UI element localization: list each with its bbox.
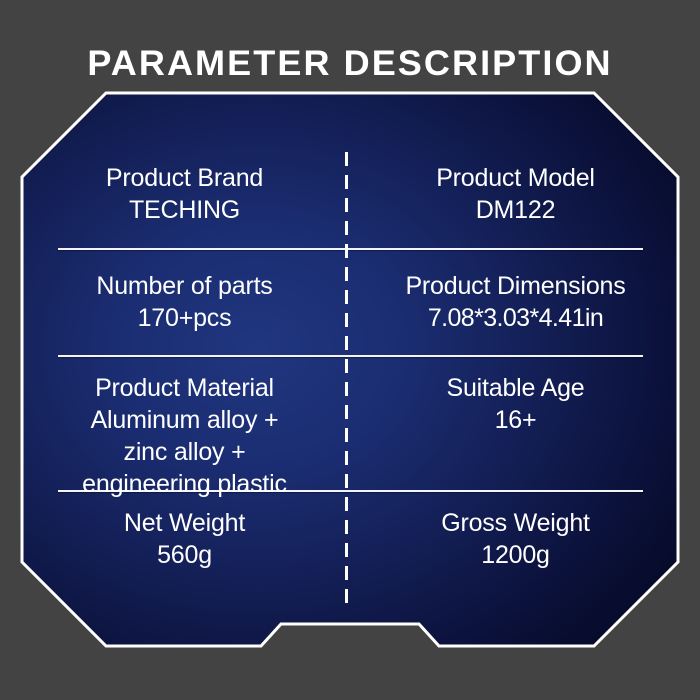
table-cell-product-model: Product Model DM122 (350, 162, 681, 226)
cell-label: Number of parts (19, 270, 350, 302)
table-row: Product Material Aluminum alloy + zinc a… (19, 372, 681, 500)
cell-label: Gross Weight (350, 507, 681, 539)
table-cell-net-weight: Net Weight 560g (19, 507, 350, 571)
table-row: Product Brand TECHING Product Model DM12… (19, 162, 681, 226)
table-cell-gross-weight: Gross Weight 1200g (350, 507, 681, 571)
cell-label: Product Brand (19, 162, 350, 194)
table-row: Number of parts 170+pcs Product Dimensio… (19, 270, 681, 334)
table-cell-product-brand: Product Brand TECHING (19, 162, 350, 226)
cell-value: 560g (19, 539, 350, 571)
cell-value: DM122 (350, 194, 681, 226)
cell-label: Product Material (19, 372, 350, 404)
cell-value: TECHING (19, 194, 350, 226)
row-separator-2 (58, 355, 643, 357)
table-cell-product-material: Product Material Aluminum alloy + zinc a… (19, 372, 350, 500)
cell-label: Suitable Age (350, 372, 681, 404)
cell-label: Product Dimensions (350, 270, 681, 302)
cell-label: Product Model (350, 162, 681, 194)
page-title: PARAMETER DESCRIPTION (0, 44, 700, 84)
table-cell-suitable-age: Suitable Age 16+ (350, 372, 681, 500)
cell-value-line: zinc alloy + (19, 436, 350, 468)
cell-value: 7.08*3.03*4.41in (350, 302, 681, 334)
cell-label: Net Weight (19, 507, 350, 539)
row-separator-1 (58, 248, 643, 250)
cell-value: Aluminum alloy + zinc alloy + engineerin… (19, 404, 350, 500)
cell-value: 16+ (350, 404, 681, 436)
table-row: Net Weight 560g Gross Weight 1200g (19, 507, 681, 571)
cell-value: 1200g (350, 539, 681, 571)
cell-value-line: Aluminum alloy + (19, 404, 350, 436)
specification-table: Product Brand TECHING Product Model DM12… (19, 90, 681, 652)
table-cell-product-dimensions: Product Dimensions 7.08*3.03*4.41in (350, 270, 681, 334)
parameter-description-panel: Product Brand TECHING Product Model DM12… (19, 90, 681, 652)
table-cell-number-of-parts: Number of parts 170+pcs (19, 270, 350, 334)
cell-value-line: engineering plastic (19, 468, 350, 500)
cell-value: 170+pcs (19, 302, 350, 334)
